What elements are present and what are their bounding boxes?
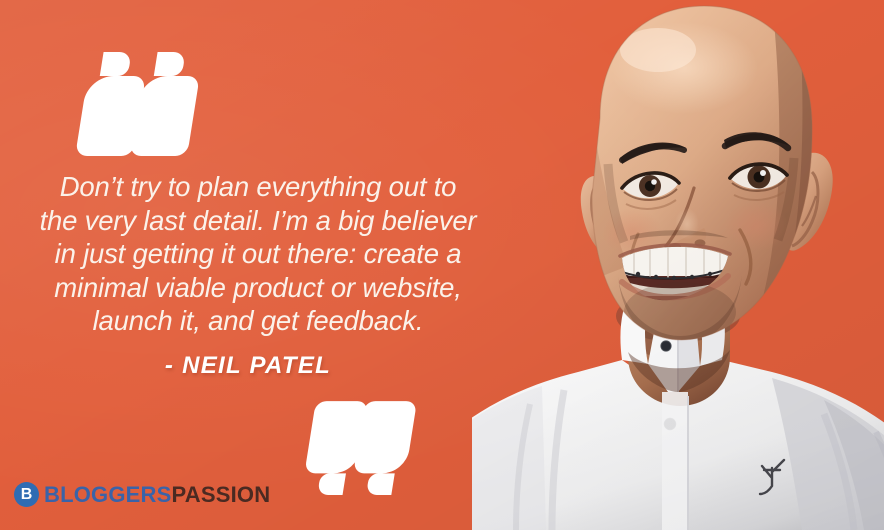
logo-badge-letter: B xyxy=(21,487,33,503)
logo-badge-icon: B xyxy=(14,482,39,507)
portrait-image xyxy=(472,0,884,530)
quote-text: Don’t try to plan everything out to the … xyxy=(8,170,508,338)
quote-line: minimal viable product or website, xyxy=(8,271,508,305)
quote-attribution: - NEIL PATEL xyxy=(8,352,488,380)
quote-line: launch it, and get feedback. xyxy=(8,304,508,338)
logo-word-primary: BLOGGERS xyxy=(44,482,172,507)
quote-line: Don’t try to plan everything out to xyxy=(8,170,508,204)
quote-line: the very last detail. I’m a big believer xyxy=(8,204,508,238)
logo-word-secondary: PASSION xyxy=(172,482,271,507)
quote-line: in just getting it out there: create a xyxy=(8,237,508,271)
head xyxy=(588,0,842,360)
bloggerspassion-logo[interactable]: B BLOGGERSPASSION xyxy=(14,482,270,507)
logo-wordmark: BLOGGERSPASSION xyxy=(44,484,270,506)
quote-graphic: Don’t try to plan everything out to the … xyxy=(0,0,884,530)
